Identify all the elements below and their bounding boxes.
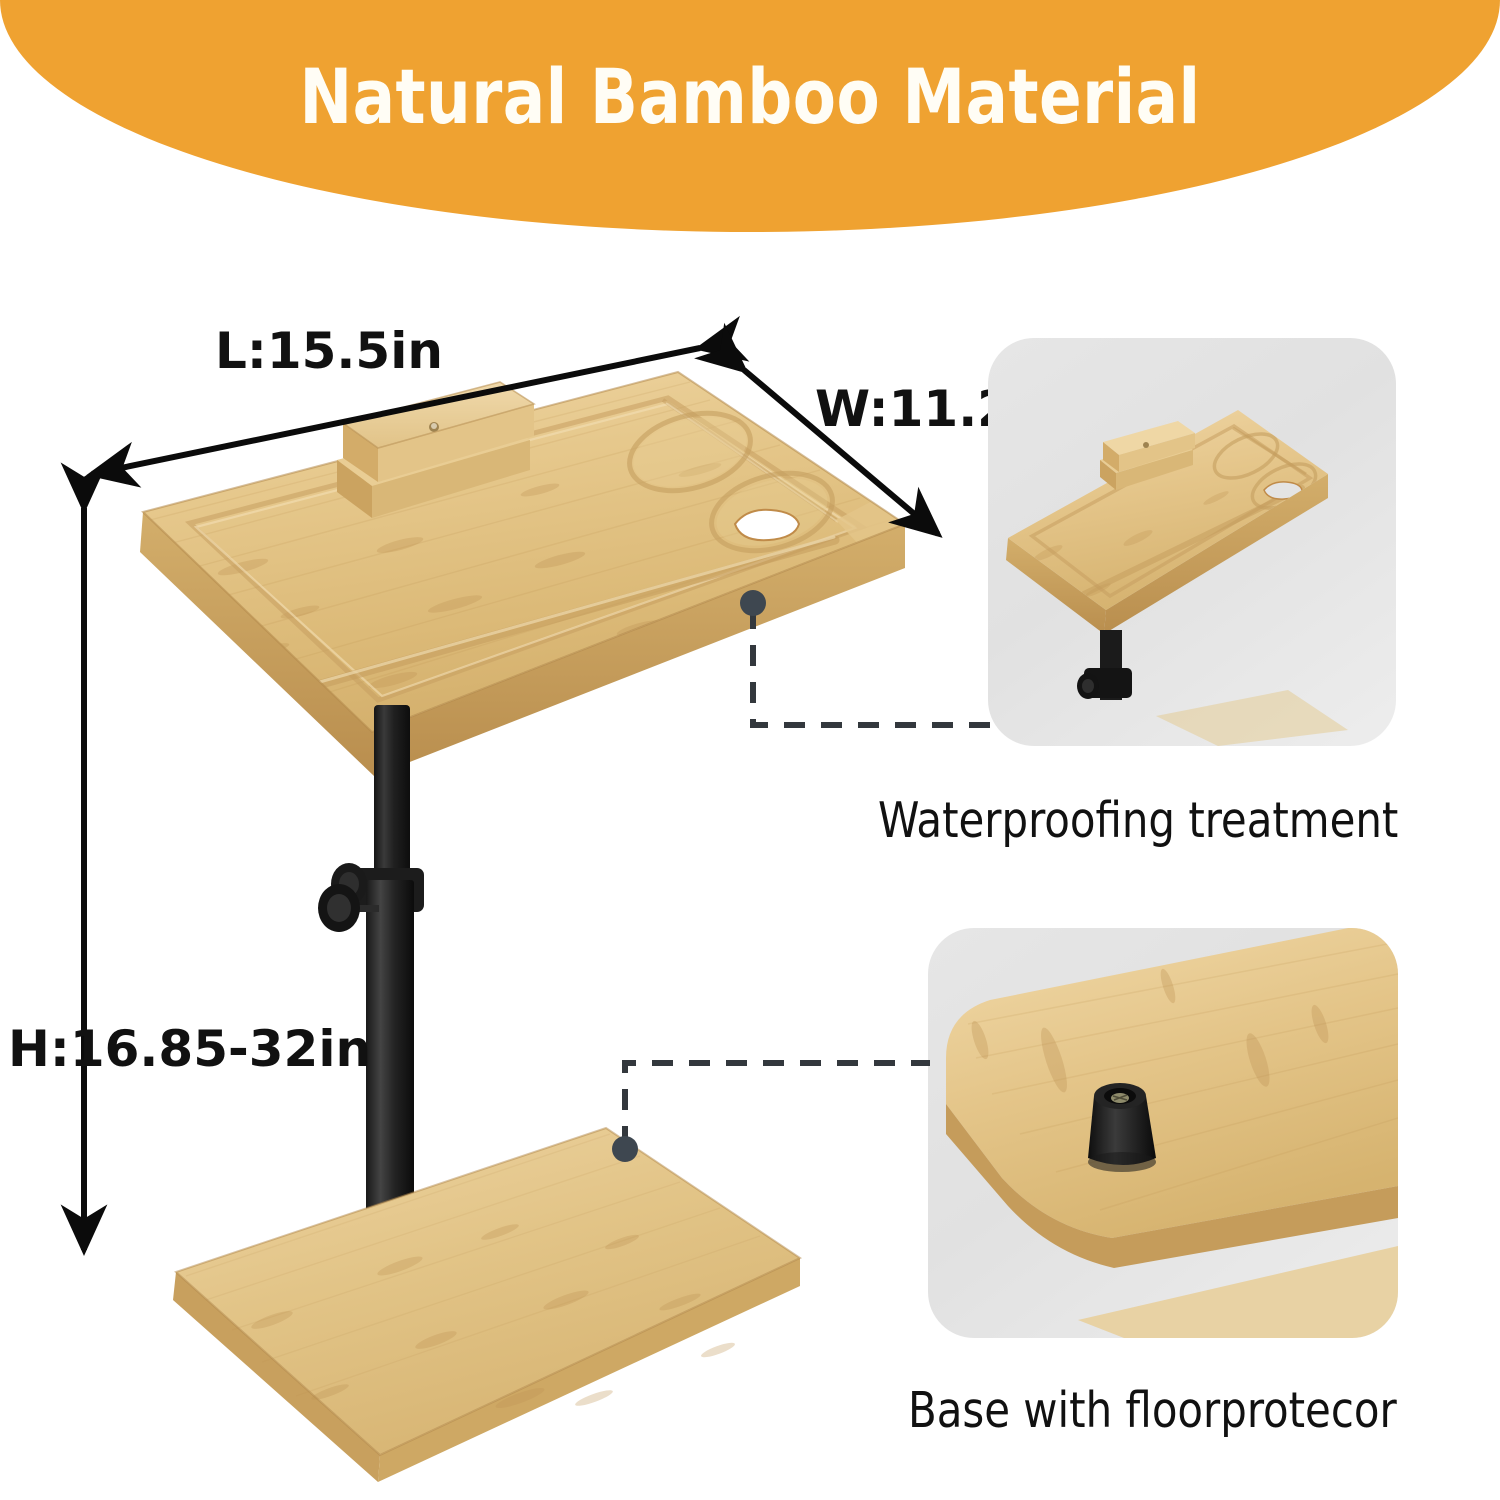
length-label: L:15.5in: [215, 322, 443, 380]
caption-waterproofing: Waterproofing treatment: [878, 792, 1398, 849]
inset-floor-protector: [928, 928, 1398, 1338]
base-board: [173, 1128, 800, 1482]
rubber-floor-protector: [1088, 1083, 1156, 1172]
inset-waterproofing: [988, 338, 1396, 746]
inset-waterproofing-art: [988, 338, 1396, 746]
inset-floor-protector-art: [928, 928, 1398, 1338]
height-label: H:16.85-32in: [8, 1020, 371, 1078]
infographic-canvas: Natural Bamboo Material: [0, 0, 1500, 1500]
caption-floor-protector: Base with floorprotecor: [908, 1382, 1397, 1439]
